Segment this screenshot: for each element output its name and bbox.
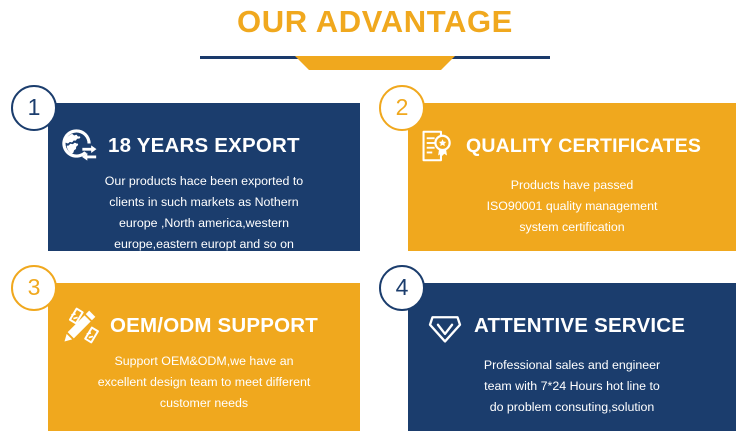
- card-description-line: Support OEM&ODM,we have an: [58, 351, 350, 372]
- card-description: Support OEM&ODM,we have an excellent des…: [58, 351, 350, 414]
- advantage-section: OUR ADVANTAGE: [0, 0, 750, 445]
- card-number: 2: [396, 96, 409, 119]
- card-description-line: customer needs: [58, 393, 350, 414]
- card-header: 18 YEARS EXPORT: [48, 123, 360, 169]
- advantage-card-2[interactable]: QUALITY CERTIFICATES Products have passe…: [371, 85, 737, 260]
- advantage-card-4[interactable]: ATTENTIVE SERVICE Professional sales and…: [371, 265, 737, 440]
- page-title: OUR ADVANTAGE: [0, 2, 750, 42]
- card-number-badge: 4: [379, 265, 425, 311]
- diamond-icon: [422, 303, 468, 349]
- card-header: QUALITY CERTIFICATES: [408, 123, 736, 169]
- card-number: 4: [396, 276, 409, 299]
- card-description-line: europe ,North america,western: [58, 213, 350, 234]
- card-description-line: Products have passed: [418, 175, 726, 196]
- card-description: Our products hace been exported to clien…: [58, 171, 350, 255]
- card-number-badge: 1: [11, 85, 57, 131]
- card-title: 18 YEARS EXPORT: [108, 134, 300, 158]
- card-number-badge: 3: [11, 265, 57, 311]
- card-title: QUALITY CERTIFICATES: [466, 135, 701, 158]
- card-panel: QUALITY CERTIFICATES Products have passe…: [408, 103, 736, 251]
- advantage-card-1[interactable]: 18 YEARS EXPORT Our products hace been e…: [11, 85, 371, 260]
- card-description-line: excellent design team to meet different: [58, 372, 350, 393]
- card-panel: ATTENTIVE SERVICE Professional sales and…: [408, 283, 736, 431]
- card-header: OEM/ODM SUPPORT: [48, 303, 360, 349]
- certificate-icon: [414, 123, 460, 169]
- card-description-line: Our products hace been exported to: [58, 171, 350, 192]
- card-description-line: europe,eastern europt and so on: [58, 234, 350, 255]
- card-description: Professional sales and engineer team wit…: [418, 355, 726, 418]
- card-description-line: team with 7*24 Hours hot line to: [418, 376, 726, 397]
- globe-exchange-icon: [56, 123, 102, 169]
- advantage-card-3[interactable]: OEM/ODM SUPPORT Support OEM&ODM,we have …: [11, 265, 371, 440]
- card-number: 3: [28, 276, 41, 299]
- card-description-line: ISO90001 quality management: [418, 196, 726, 217]
- card-number-badge: 2: [379, 85, 425, 131]
- card-header: ATTENTIVE SERVICE: [408, 303, 736, 349]
- card-description-line: Professional sales and engineer: [418, 355, 726, 376]
- title-divider: [200, 52, 550, 70]
- divider-trapezoid-icon: [295, 56, 455, 70]
- card-title: OEM/ODM SUPPORT: [110, 314, 318, 338]
- pencil-ruler-icon: [58, 303, 104, 349]
- section-header: OUR ADVANTAGE: [0, 0, 750, 80]
- card-description: Products have passed ISO90001 quality ma…: [418, 175, 726, 238]
- card-description-line: system certification: [418, 217, 726, 238]
- card-panel: 18 YEARS EXPORT Our products hace been e…: [48, 103, 360, 251]
- card-description-line: do problem consuting,solution: [418, 397, 726, 418]
- card-panel: OEM/ODM SUPPORT Support OEM&ODM,we have …: [48, 283, 360, 431]
- card-title: ATTENTIVE SERVICE: [474, 314, 685, 338]
- card-description-line: clients in such markets as Nothern: [58, 192, 350, 213]
- card-number: 1: [28, 96, 41, 119]
